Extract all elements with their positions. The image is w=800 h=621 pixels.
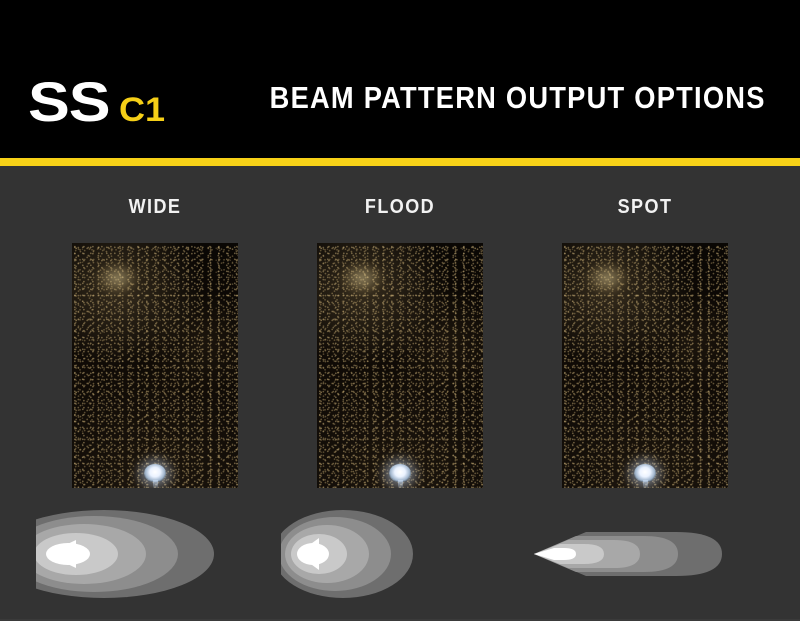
pattern-column-wide: WIDE xyxy=(36,166,274,621)
column-label-wide: WIDE xyxy=(48,196,262,219)
logo-primary-text: SS xyxy=(28,74,109,130)
accent-stripe xyxy=(0,158,800,166)
foliage-glow xyxy=(584,261,630,295)
beam-diagram-spot xyxy=(526,504,764,604)
pattern-column-spot: SPOT xyxy=(526,166,764,621)
header-bar: SS C1 BEAM PATTERN OUTPUT OPTIONS xyxy=(0,0,800,158)
column-label-flood: FLOOD xyxy=(293,196,507,219)
beam-photo-spot-content xyxy=(562,243,728,488)
light-source-stem xyxy=(398,480,403,488)
pattern-column-flood: FLOOD xyxy=(281,166,519,621)
beam-photo-spot xyxy=(562,243,728,488)
logo-secondary-text: C1 xyxy=(119,93,165,127)
brand-logo: SS C1 xyxy=(28,74,162,130)
beam-lobes-flood xyxy=(281,510,413,598)
beam-lobes-wide xyxy=(36,510,214,598)
light-source-stem xyxy=(153,480,158,488)
beam-photo-flood xyxy=(317,243,483,488)
column-label-spot: SPOT xyxy=(538,196,752,219)
page-title: BEAM PATTERN OUTPUT OPTIONS xyxy=(270,80,766,116)
beam-photo-wide-content xyxy=(72,243,238,488)
beam-photo-wide xyxy=(72,243,238,488)
pattern-columns: WIDE xyxy=(0,166,800,621)
beam-pattern-infographic: SS C1 BEAM PATTERN OUTPUT OPTIONS WIDE xyxy=(0,0,800,621)
beam-diagram-flood xyxy=(281,504,519,604)
foliage-glow xyxy=(94,261,140,295)
beam-photo-flood-content xyxy=(317,243,483,488)
beam-diagram-wide xyxy=(36,504,274,604)
beam-lobes-spot xyxy=(534,532,722,576)
foliage-glow xyxy=(339,261,385,295)
light-source-stem xyxy=(643,480,648,488)
